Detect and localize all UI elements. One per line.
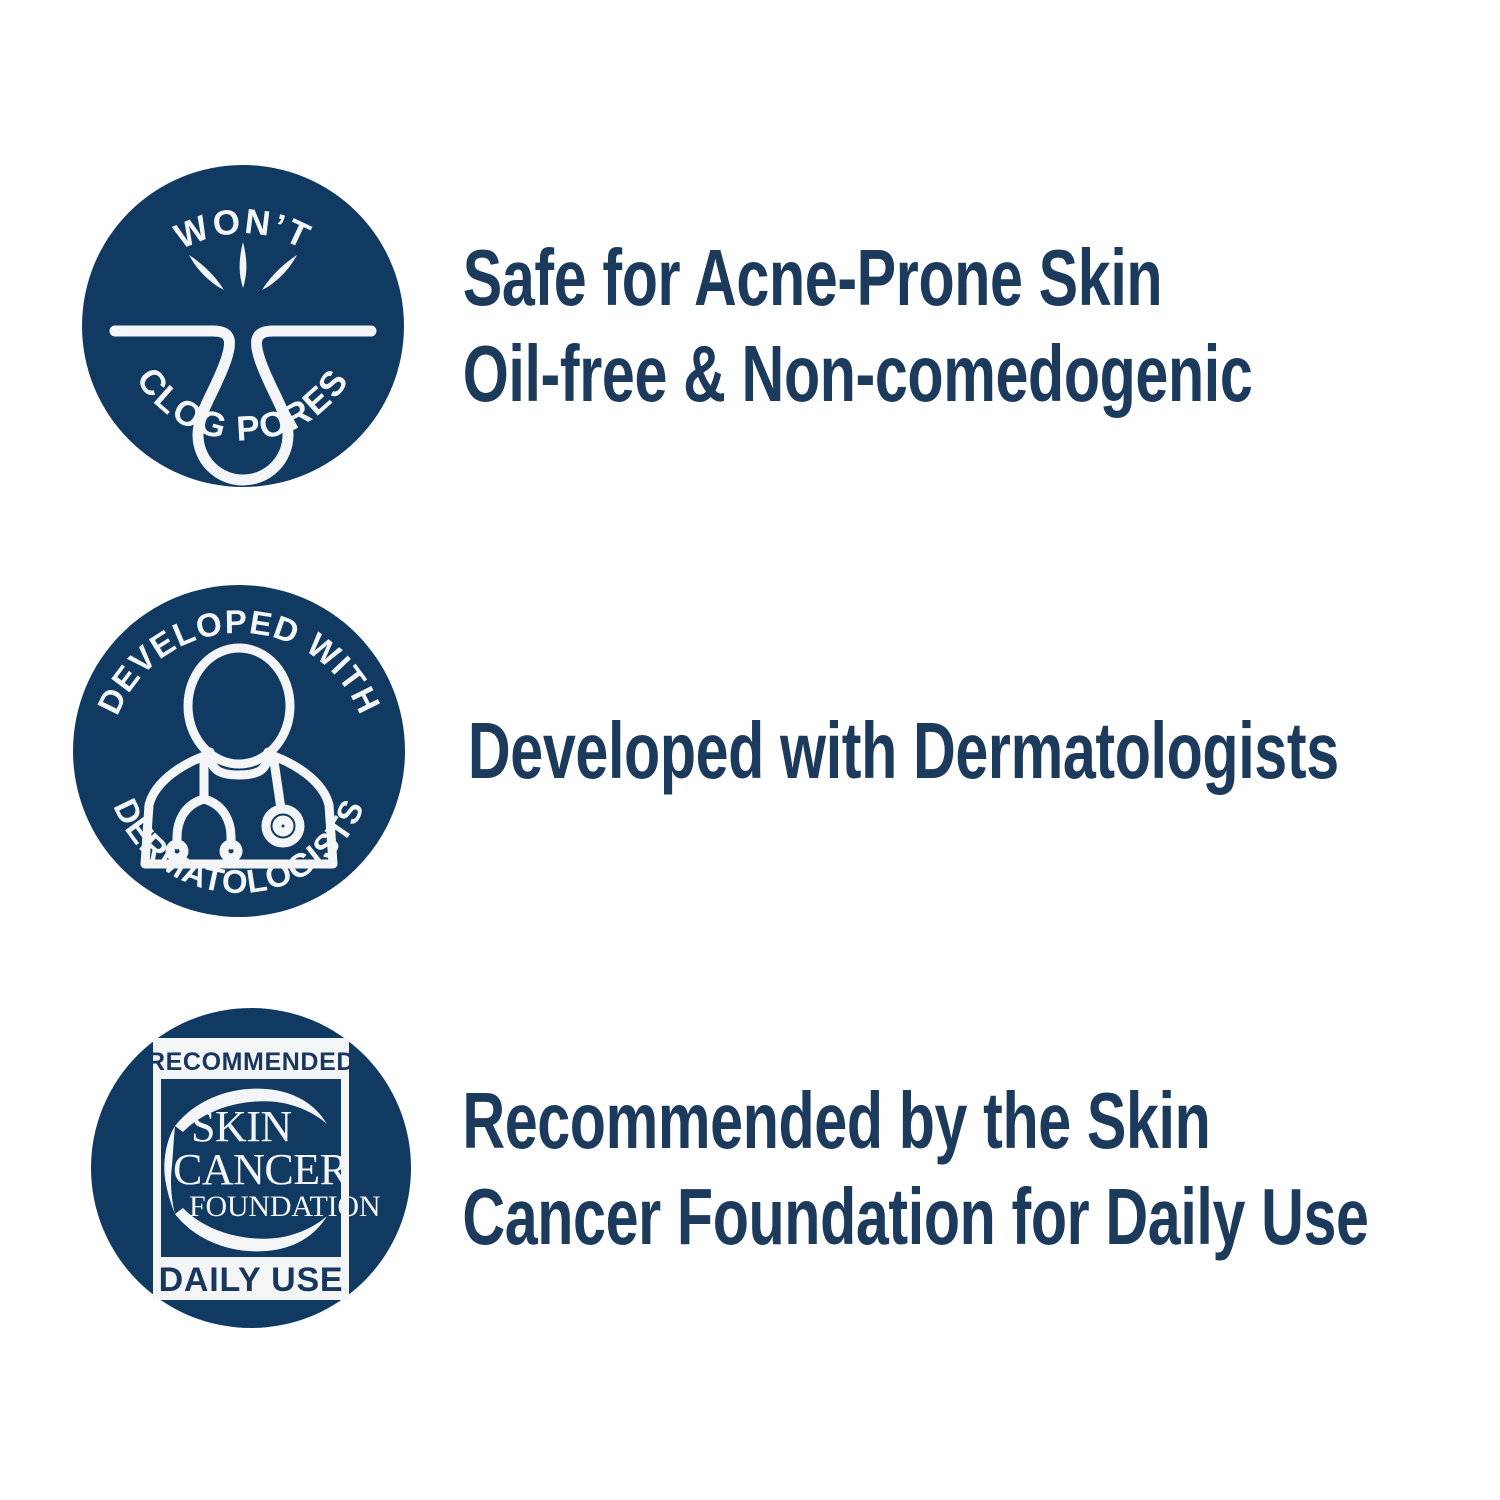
seal-top-label: RECOMMENDED xyxy=(147,1048,355,1076)
wont-clog-pores-badge: WON’T CLOG PORES xyxy=(82,160,404,492)
benefit-text-3: Recommended by the Skin Cancer Foundatio… xyxy=(412,1073,1369,1265)
benefit-line: Recommended by the Skin xyxy=(462,1073,1368,1169)
benefit-line: Oil-free & Non-comedogenic xyxy=(463,326,1253,422)
benefit-text-1: Safe for Acne-Prone Skin Oil-free & Non-… xyxy=(405,230,1252,422)
seal-bottom-label: DAILY USE xyxy=(159,1261,344,1299)
seal-brand-line-3: FOUNDATION xyxy=(189,1190,380,1223)
benefit-text-2: Developed with Dermatologists xyxy=(405,703,1339,799)
seal-brand-line-1: SKIN xyxy=(191,1102,292,1151)
badge-slot-2: DEVELOPED WITH DERMATOLOGISTS xyxy=(0,583,405,919)
skin-cancer-foundation-seal-icon: RECOMMENDED SKIN CANCER FOUNDATION DAILY… xyxy=(147,1038,380,1300)
skin-cancer-foundation-badge: RECOMMENDED SKIN CANCER FOUNDATION DAILY… xyxy=(91,1008,411,1330)
seal-brand-line-2: CANCER xyxy=(173,1145,350,1194)
benefit-row-developed-with-dermatologists: DEVELOPED WITH DERMATOLOGISTS xyxy=(0,583,1500,919)
badge-slot-3: RECOMMENDED SKIN CANCER FOUNDATION DAILY… xyxy=(0,1008,412,1330)
benefit-line: Safe for Acne-Prone Skin xyxy=(463,230,1253,326)
benefit-line: Developed with Dermatologists xyxy=(468,703,1339,799)
benefit-row-skin-cancer-foundation: RECOMMENDED SKIN CANCER FOUNDATION DAILY… xyxy=(0,1008,1500,1330)
developed-with-dermatologists-badge: DEVELOPED WITH DERMATOLOGISTS xyxy=(73,583,405,919)
benefit-row-wont-clog-pores: WON’T CLOG PORES xyxy=(0,160,1500,492)
benefits-panel: WON’T CLOG PORES xyxy=(0,0,1500,1500)
badge-slot-1: WON’T CLOG PORES xyxy=(0,160,405,492)
benefit-line: Cancer Foundation for Daily Use xyxy=(462,1169,1368,1265)
